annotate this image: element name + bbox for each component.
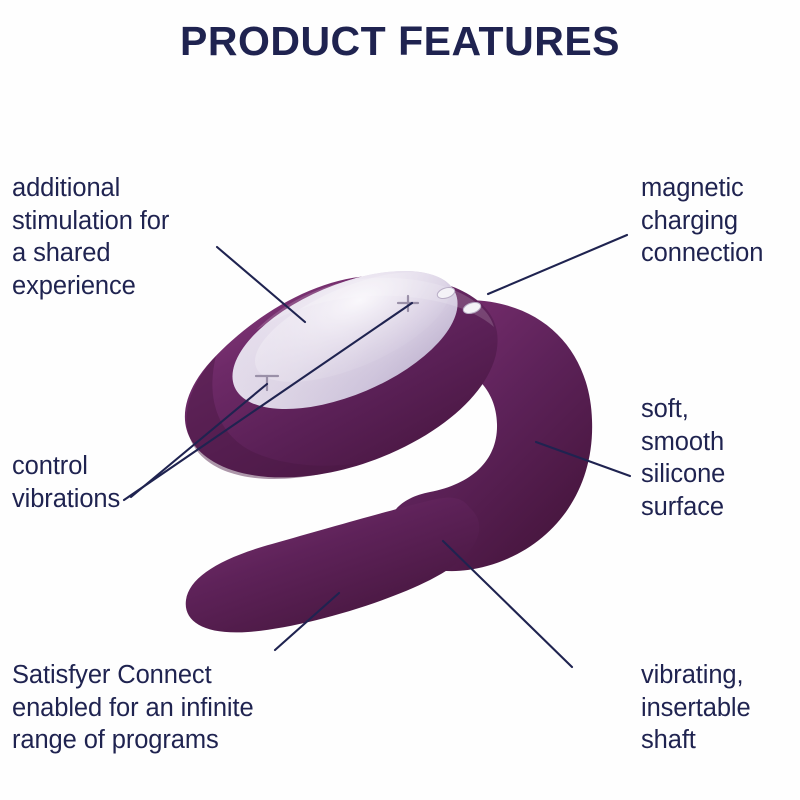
leader-magnetic-charging <box>488 235 627 294</box>
feature-label-soft-smooth-silicone: soft, smooth silicone surface <box>641 393 800 524</box>
feature-label-additional-stimulation: additional stimulation for a shared expe… <box>12 172 237 303</box>
product-body <box>185 242 592 632</box>
feature-label-vibrating-shaft: vibrating, insertable shaft <box>641 659 800 757</box>
feature-label-magnetic-charging: magnetic charging connection <box>641 172 800 270</box>
feature-label-satisfyer-connect: Satisfyer Connect enabled for an infinit… <box>12 659 342 757</box>
leader-vibrating-shaft <box>443 541 572 667</box>
feature-label-control-vibrations: control vibrations <box>12 450 227 515</box>
product-features-infographic: PRODUCT FEATURES <box>0 0 800 800</box>
product-insertable-shaft <box>186 498 480 633</box>
